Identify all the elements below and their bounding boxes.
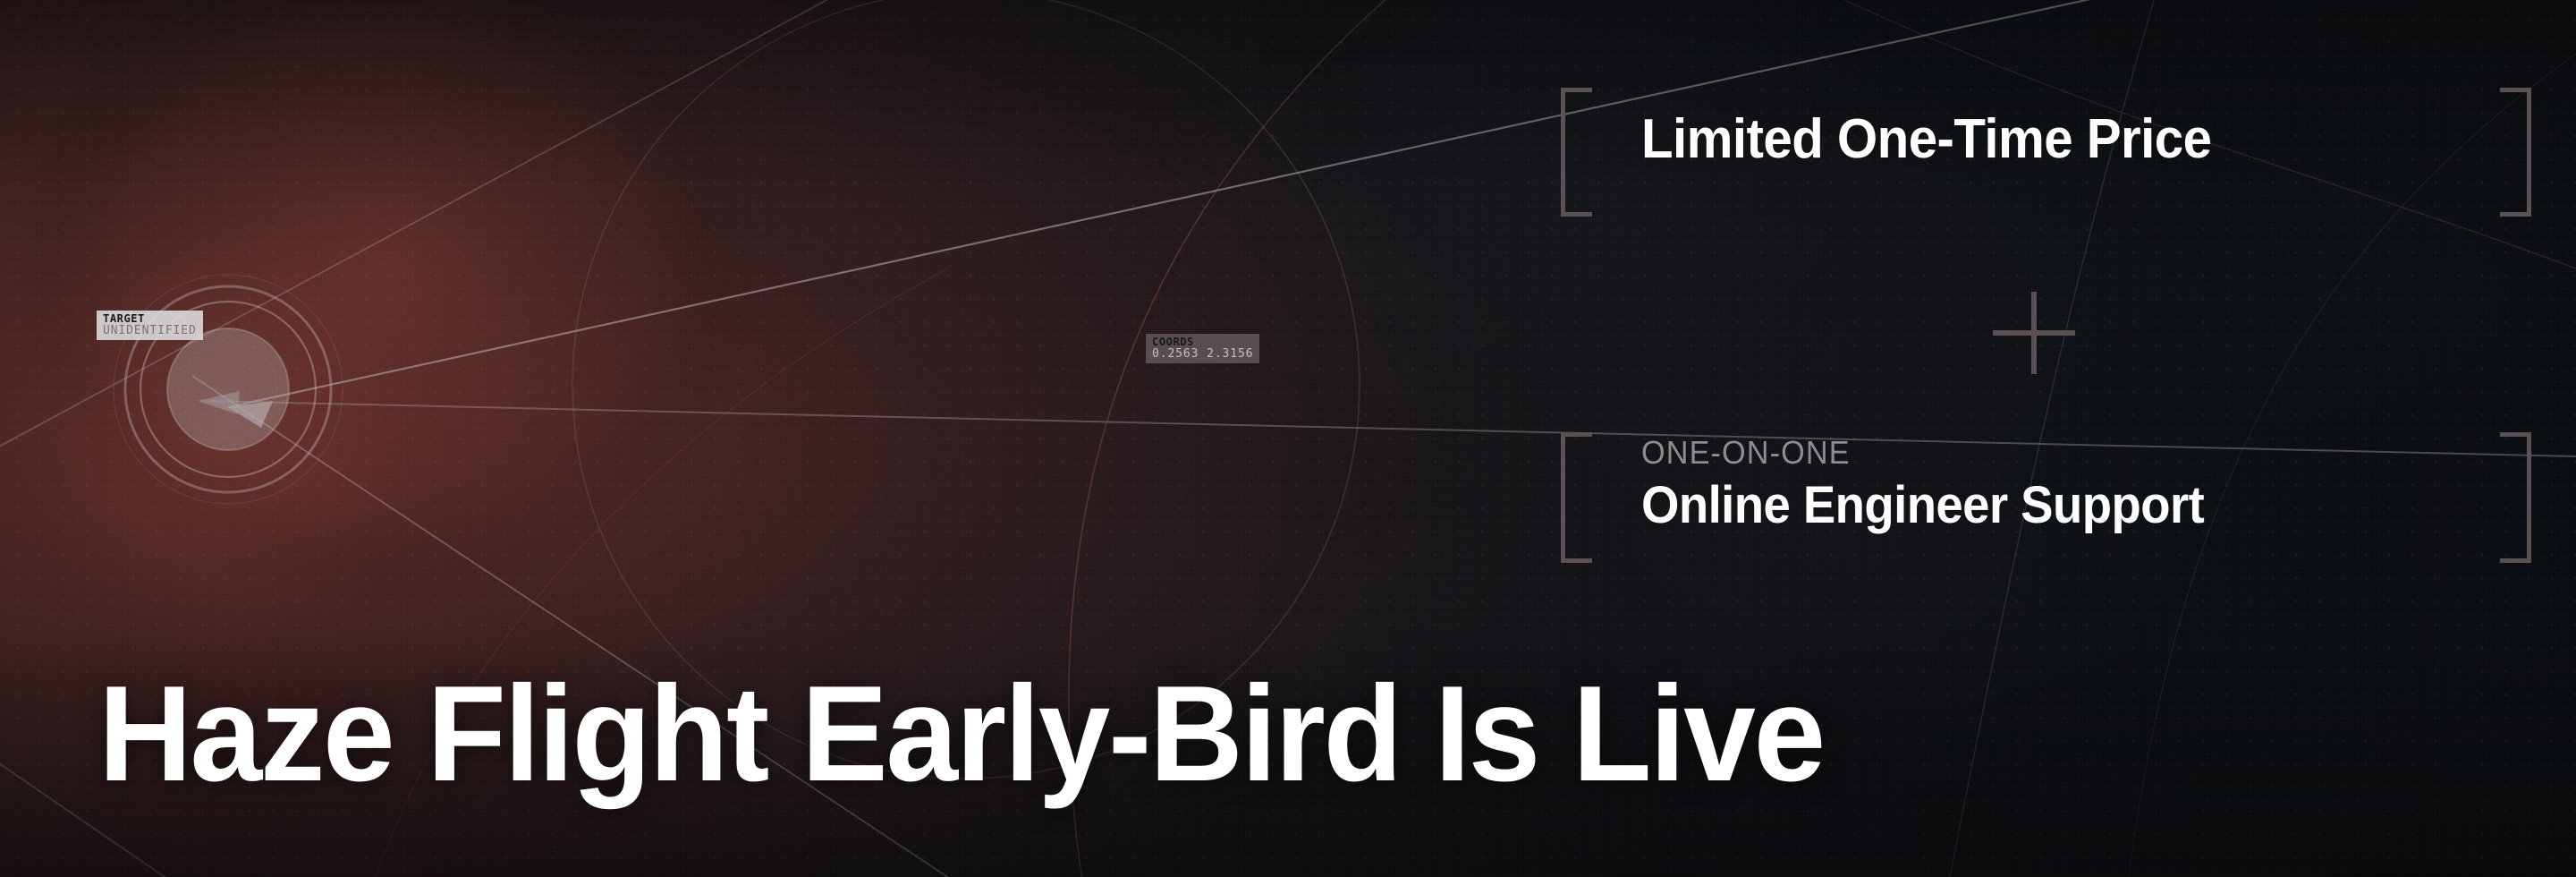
trajectory-arrowhead-2 xyxy=(198,391,240,414)
feature-support-title: Online Engineer Support xyxy=(1641,475,2204,535)
feature-support-eyebrow: ONE-ON-ONE xyxy=(1641,434,1851,472)
trajectory-line-2 xyxy=(210,401,2576,456)
coords-readout-chip: COORDS 0.2563 2.3156 xyxy=(1146,334,1259,363)
trajectory-line-4 xyxy=(0,0,877,465)
bracket-left-icon xyxy=(1561,432,1592,563)
feature-price-title: Limited One-Time Price xyxy=(1641,107,2211,171)
coords-chip-label: COORDS xyxy=(1152,336,1253,348)
page-title: Haze Flight Early-Bird Is Live xyxy=(98,666,1824,802)
target-chip-label: TARGET xyxy=(103,313,197,325)
bracket-right-icon xyxy=(2500,432,2531,563)
target-status-chip: TARGET UNIDENTIFIED xyxy=(97,311,203,340)
target-reticle-icon xyxy=(114,275,343,504)
trajectory-line-1 xyxy=(228,0,2576,407)
crosshair-plus-icon xyxy=(1993,292,2075,374)
trajectory-arrowhead-1 xyxy=(228,401,273,428)
crosshair-vertical-bar xyxy=(2031,292,2037,374)
promo-banner: TARGET UNIDENTIFIED COORDS 0.2563 2.3156… xyxy=(0,0,2576,877)
bracket-left-icon xyxy=(1561,88,1592,217)
bracket-right-icon xyxy=(2500,88,2531,217)
target-chip-value: UNIDENTIFIED xyxy=(103,325,197,337)
coords-chip-value: 0.2563 2.3156 xyxy=(1152,348,1253,361)
